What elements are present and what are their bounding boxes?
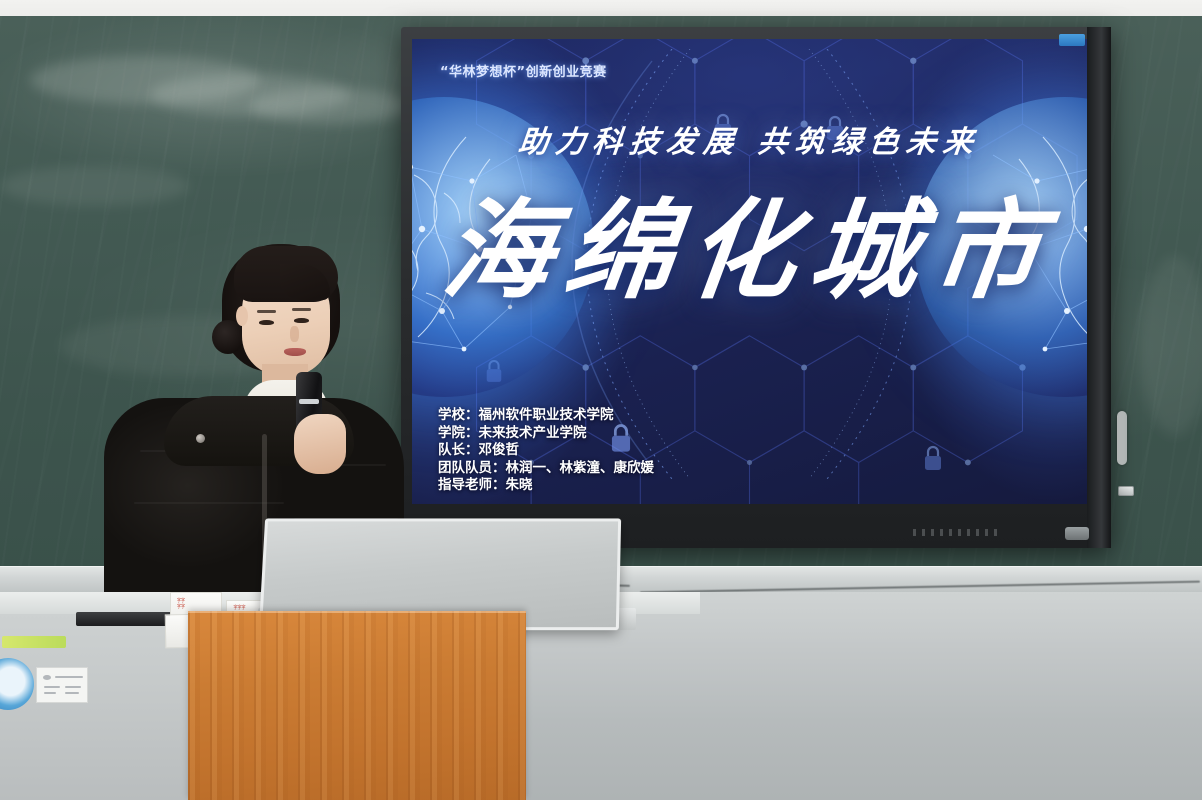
info-school: 学校：福州软件职业技术学院 bbox=[438, 407, 654, 425]
green-tape-marker bbox=[2, 636, 66, 648]
blue-asset-sticker bbox=[1059, 34, 1085, 46]
classroom-presentation-photo: “华林梦想杯”创新创业竞赛 助力科技发展 共筑绿色未来 海绵化城市 学校：福州软… bbox=[0, 0, 1202, 800]
chalk-smudge bbox=[0, 166, 190, 206]
team-info-block: 学校：福州软件职业技术学院 学院：未来技术产业学院 队长：邓俊哲 团队队员：林润… bbox=[438, 407, 654, 495]
eyebrow-right bbox=[292, 308, 311, 311]
slide-slogan: 助力科技发展 共筑绿色未来 bbox=[412, 117, 1087, 161]
chalk-smudge bbox=[1140, 256, 1202, 436]
eyebrow-left bbox=[257, 310, 276, 313]
presentation-slide: “华林梦想杯”创新创业竞赛 助力科技发展 共筑绿色未来 海绵化城市 学校：福州软… bbox=[412, 39, 1087, 504]
jacket-snap-button bbox=[196, 434, 205, 443]
ear bbox=[236, 306, 248, 326]
chalk-smudge bbox=[250, 88, 410, 124]
hair-fringe bbox=[234, 246, 338, 302]
power-button[interactable] bbox=[1065, 527, 1089, 540]
equipment-label-sticker bbox=[36, 667, 88, 703]
microphone-band bbox=[299, 399, 319, 404]
board-handle[interactable] bbox=[1117, 411, 1127, 465]
info-college: 学院：未来技术产业学院 bbox=[438, 425, 654, 443]
slide-title: 海绵化城市 bbox=[412, 189, 1087, 313]
nose bbox=[290, 326, 299, 342]
info-advisor: 指导老师：朱晓 bbox=[438, 477, 654, 495]
interactive-flat-panel-display[interactable]: “华林梦想杯”创新创业竞赛 助力科技发展 共筑绿色未来 海绵化城市 学校：福州软… bbox=[401, 27, 1111, 548]
competition-header: “华林梦想杯”创新创业竞赛 bbox=[440, 61, 607, 80]
info-members: 团队队员：林润一、林紫潼、康欣媛 bbox=[438, 460, 654, 478]
display-screen[interactable]: “华林梦想杯”创新创业竞赛 助力科技发展 共筑绿色未来 海绵化城市 学校：福州软… bbox=[412, 39, 1087, 504]
hand-holding-microphone bbox=[294, 414, 346, 474]
display-port-strip bbox=[913, 529, 999, 536]
wooden-podium-panel bbox=[188, 611, 526, 800]
eye-right bbox=[294, 318, 309, 323]
eye-left bbox=[259, 320, 274, 325]
display-side-panel bbox=[1087, 27, 1111, 548]
mouth bbox=[284, 348, 306, 356]
board-clip[interactable] bbox=[1118, 486, 1134, 496]
info-leader: 队长：邓俊哲 bbox=[438, 442, 654, 460]
